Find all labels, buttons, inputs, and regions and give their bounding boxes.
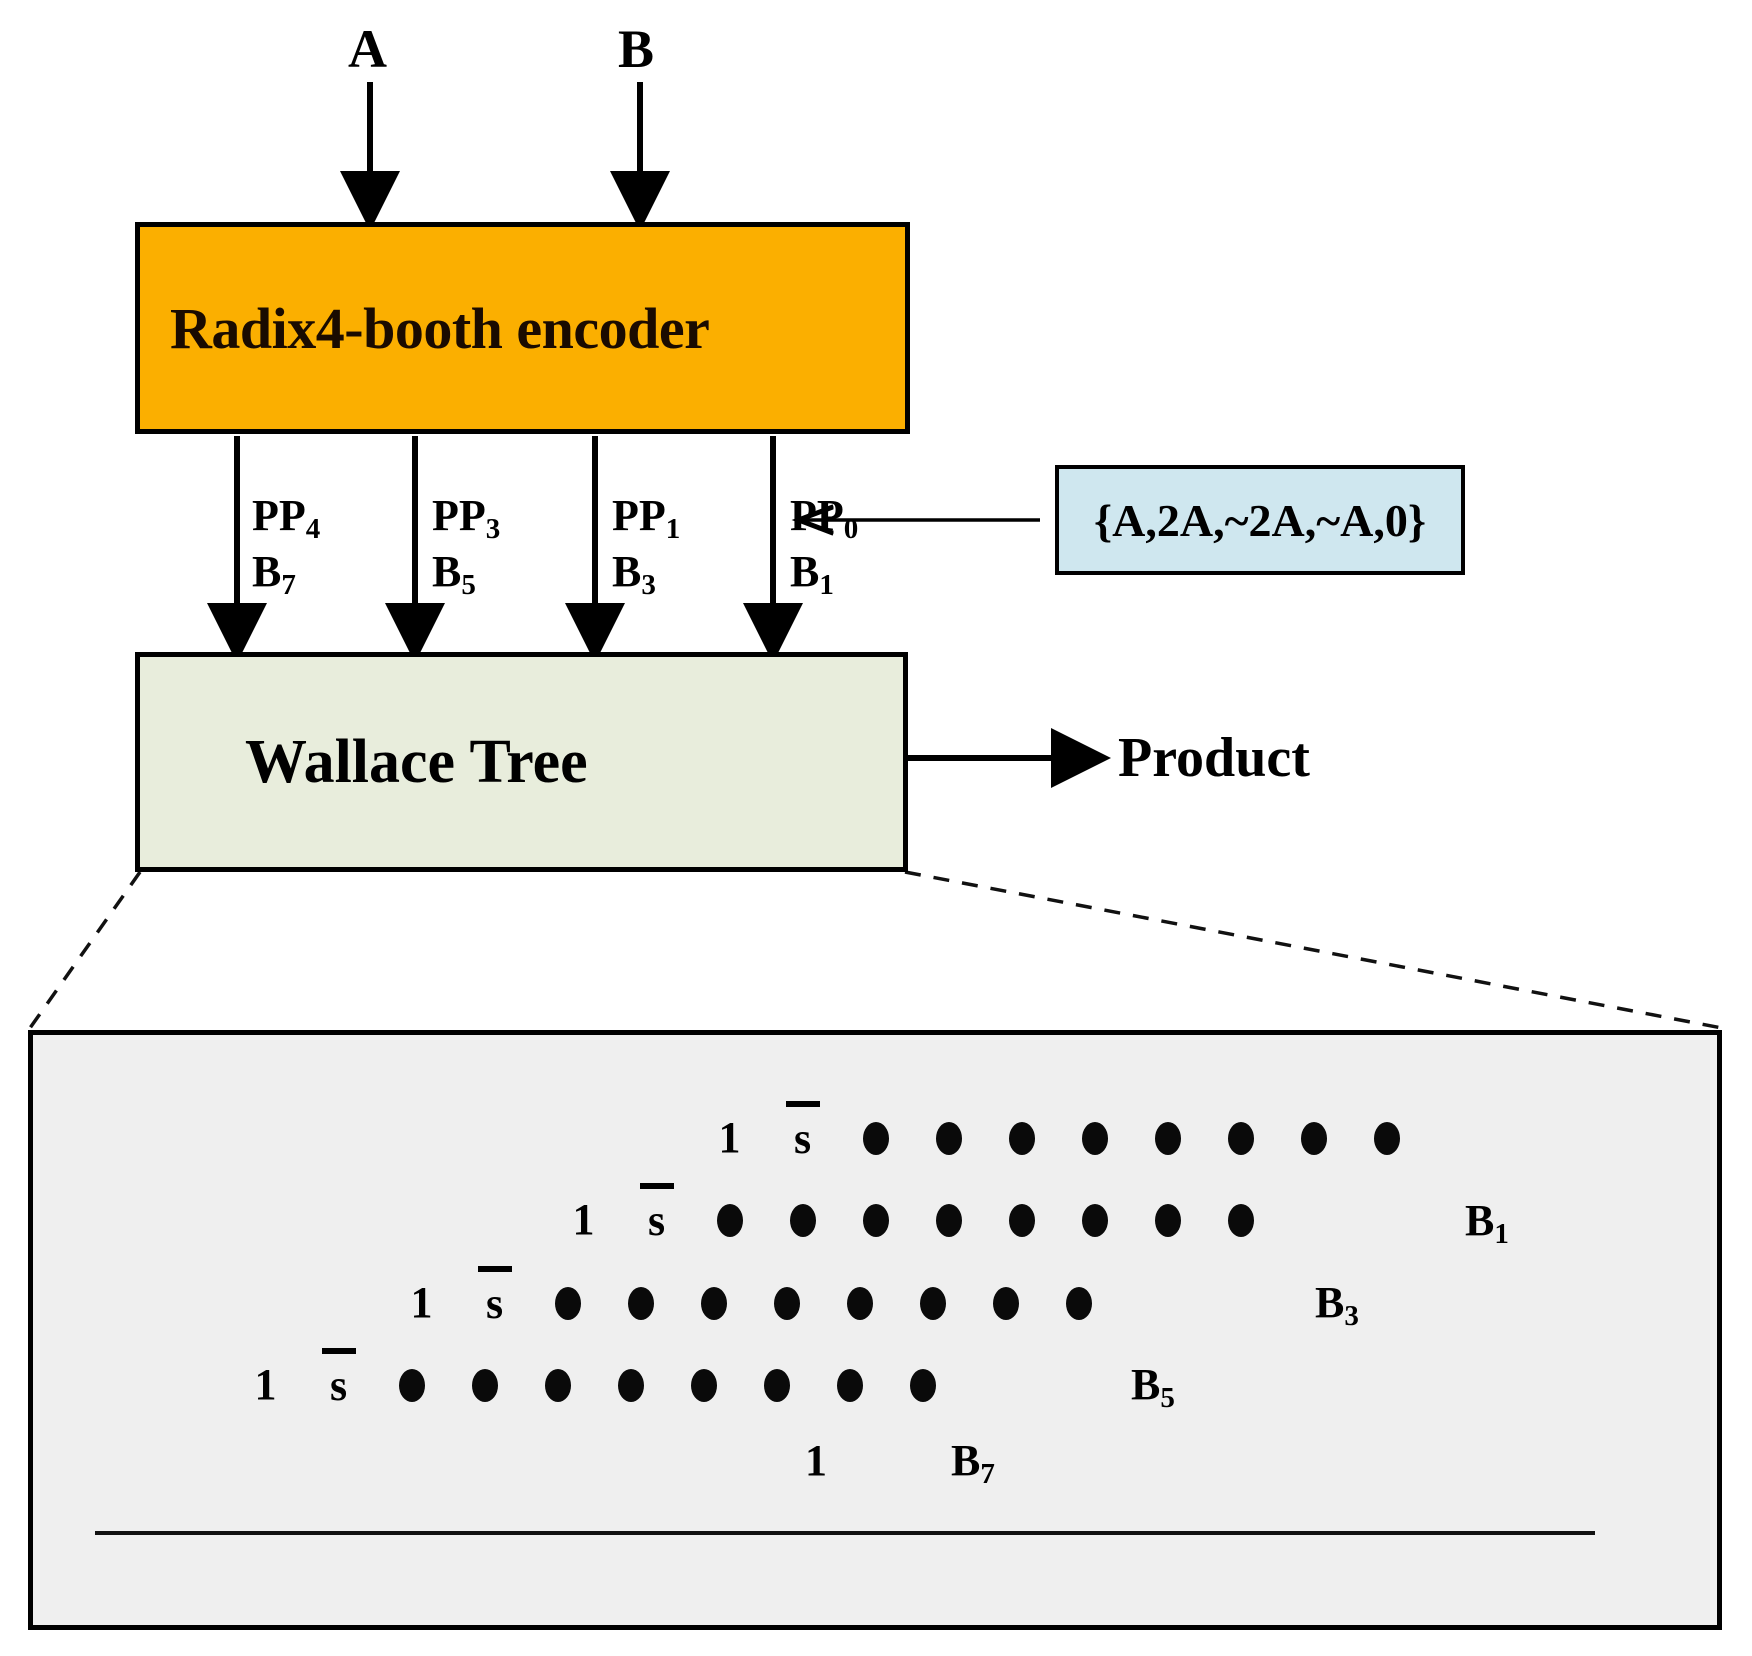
dot-row-2: 1 s [547,1192,1277,1248]
dot-glyph-icon [555,1287,581,1320]
dot-glyph-icon [920,1287,946,1320]
dot-row-1: 1 s [693,1110,1423,1166]
dot-glyph-icon [1009,1204,1035,1237]
row4-dot-7 [813,1357,886,1413]
wire-pp0-bsub: 1 [819,570,834,602]
partial-product-array-panel: 1 s 1 s [28,1030,1722,1630]
row4-dot-1 [375,1357,448,1413]
dot-glyph-icon [1301,1122,1327,1155]
dot-glyph-icon [1155,1122,1181,1155]
row1-dot-3 [985,1110,1058,1166]
row1-dot-4 [1058,1110,1131,1166]
array-label-b1-sub: 1 [1494,1218,1509,1250]
row3-dot-5 [823,1275,896,1331]
row2-dot-3 [839,1192,912,1248]
dot-glyph-icon [910,1369,936,1402]
wire-pp3-sub: 3 [486,513,501,545]
row2-lead-one: 1 [547,1192,620,1248]
wire-pp3-pp: PP [432,491,486,540]
row4-lead-one: 1 [229,1357,302,1413]
dot-glyph-icon [1228,1204,1254,1237]
row1-lead-one: 1 [693,1110,766,1166]
row4-dot-8 [886,1357,959,1413]
array-label-b5: B5 [1131,1359,1175,1415]
dot-glyph-icon [618,1369,644,1402]
block-wallace-tree[interactable]: Wallace Tree [135,652,908,872]
row1-sign-bit: s [766,1110,839,1166]
row2-one-text: 1 [573,1198,595,1242]
wire-pp4-bsub: 7 [281,570,296,602]
row1-sign-text: s [794,1115,811,1161]
array-label-b7: B7 [951,1435,995,1491]
input-label-b: B [618,22,654,76]
dot-glyph-icon [774,1287,800,1320]
dot-glyph-icon [1082,1204,1108,1237]
array-label-b7-text: B [951,1436,980,1485]
row3-lead-one: 1 [385,1275,458,1331]
array-label-b3: B3 [1315,1277,1359,1333]
dot-glyph-icon [1066,1287,1092,1320]
wire-pp0-sub: 0 [844,513,859,545]
row3-sign-bit: s [458,1275,531,1331]
array-sum-rule [95,1531,1595,1535]
array-label-b1-text: B [1465,1196,1494,1245]
wire-pp1-bsub: 3 [641,570,656,602]
dot-glyph-icon [1374,1122,1400,1155]
dot-glyph-icon [936,1122,962,1155]
dot-glyph-icon [847,1287,873,1320]
dot-glyph-icon [1009,1122,1035,1155]
dot-glyph-icon [1155,1204,1181,1237]
row4-dot-4 [594,1357,667,1413]
dot-glyph-icon [764,1369,790,1402]
row4-sign-text: s [330,1362,347,1408]
row4-dot-5 [667,1357,740,1413]
row3-dot-7 [969,1275,1042,1331]
row3-dot-6 [896,1275,969,1331]
block-wallace-label: Wallace Tree [140,727,588,798]
array-label-bottom-one: 1 [805,1435,827,1486]
dot-glyph-icon [545,1369,571,1402]
wire-pp4-sub: 4 [306,513,321,545]
dot-glyph-icon [399,1369,425,1402]
row3-dot-8 [1042,1275,1115,1331]
row3-sign-text: s [486,1280,503,1326]
row1-dot-8 [1350,1110,1423,1166]
row1-dot-5 [1131,1110,1204,1166]
row2-dot-6 [1058,1192,1131,1248]
row2-dot-7 [1131,1192,1204,1248]
wire-pp1-b: B [612,547,641,596]
row2-sign-bit: s [620,1192,693,1248]
input-label-a: A [348,22,387,76]
row2-dot-5 [985,1192,1058,1248]
wire-label-pp1: PP1 B3 [612,490,680,603]
dot-glyph-icon [936,1204,962,1237]
wire-label-pp0: PP0 B1 [790,490,858,603]
row4-one-text: 1 [255,1363,277,1407]
array-label-b3-sub: 3 [1344,1300,1359,1332]
dot-glyph-icon [628,1287,654,1320]
row1-dot-2 [912,1110,985,1166]
dot-glyph-icon [691,1369,717,1402]
row4-dot-2 [448,1357,521,1413]
row2-dot-4 [912,1192,985,1248]
row3-dot-3 [677,1275,750,1331]
wire-label-pp3: PP3 B5 [432,490,500,603]
wire-pp3-b: B [432,547,461,596]
note-encoding-set[interactable]: {A,2A,~2A,~A,0} [1055,465,1465,575]
wire-pp3-bsub: 5 [461,570,476,602]
row3-dot-1 [531,1275,604,1331]
dot-glyph-icon [863,1122,889,1155]
array-label-b3-text: B [1315,1278,1344,1327]
wire-label-pp4: PP4 B7 [252,490,320,603]
wire-pp4-b: B [252,547,281,596]
dot-glyph-icon [790,1204,816,1237]
dot-glyph-icon [701,1287,727,1320]
block-radix4-booth-encoder[interactable]: Radix4-booth encoder [135,222,910,434]
row2-dot-8 [1204,1192,1277,1248]
row1-one-text: 1 [719,1116,741,1160]
row2-dot-1 [693,1192,766,1248]
row1-dot-6 [1204,1110,1277,1166]
callout-dashed-lines [30,872,1722,1028]
row3-dot-4 [750,1275,823,1331]
row1-dot-7 [1277,1110,1350,1166]
array-label-b1: B1 [1465,1195,1509,1251]
wire-pp4-pp: PP [252,491,306,540]
output-label-product: Product [1118,726,1310,790]
array-label-b5-text: B [1131,1360,1160,1409]
wire-pp1-pp: PP [612,491,666,540]
row4-dot-6 [740,1357,813,1413]
row4-sign-bit: s [302,1357,375,1413]
dot-glyph-icon [717,1204,743,1237]
row3-dot-2 [604,1275,677,1331]
block-encoder-label: Radix4-booth encoder [140,295,709,362]
dot-glyph-icon [863,1204,889,1237]
wire-pp0-b: B [790,547,819,596]
row4-dot-3 [521,1357,594,1413]
dot-glyph-icon [1228,1122,1254,1155]
dot-glyph-icon [993,1287,1019,1320]
wire-pp0-pp: PP [790,491,844,540]
array-label-b7-sub: 7 [980,1458,995,1490]
array-label-b5-sub: 5 [1160,1382,1175,1414]
dot-glyph-icon [1082,1122,1108,1155]
note-encoding-set-label: {A,2A,~2A,~A,0} [1094,494,1426,547]
dot-row-3: 1 s [385,1275,1115,1331]
diagram-canvas: A B Radix4-booth encoder PP4 B7 PP3 B5 P… [0,0,1752,1656]
row3-one-text: 1 [411,1281,433,1325]
dot-glyph-icon [837,1369,863,1402]
dot-row-4: 1 s [229,1357,959,1413]
row2-dot-2 [766,1192,839,1248]
row2-sign-text: s [648,1197,665,1243]
dot-glyph-icon [472,1369,498,1402]
row1-dot-1 [839,1110,912,1166]
wire-pp1-sub: 1 [666,513,681,545]
